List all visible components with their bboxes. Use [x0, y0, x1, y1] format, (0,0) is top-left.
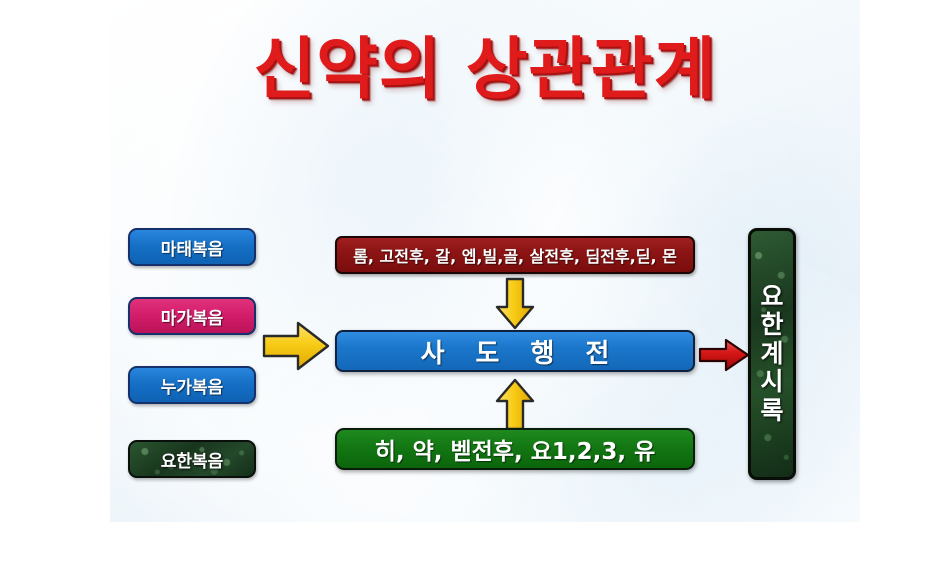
general-epistles-label: 히, 약, 벧전후, 요1,2,3, 유 — [375, 432, 656, 466]
gospel-box-john[interactable]: 요한복음 — [128, 440, 256, 478]
page-title: 신약의 상관관계 — [110, 34, 860, 104]
gospel-label: 마가복음 — [161, 304, 224, 329]
revelation-char: 요 — [760, 284, 783, 311]
revelation-char: 한 — [760, 312, 783, 339]
revelation-char: 시 — [760, 369, 783, 396]
revelation-char: 계 — [760, 341, 783, 368]
pauline-epistles-box[interactable]: 롬, 고전후, 갈, 엡,빌,골, 살전후, 딤전후,딛, 몬 — [335, 236, 695, 274]
acts-label: 사 도 행 전 — [410, 333, 621, 370]
general-epistles-box[interactable]: 히, 약, 벧전후, 요1,2,3, 유 — [335, 428, 695, 470]
acts-box[interactable]: 사 도 행 전 — [335, 330, 695, 372]
arrow-up-yellow-general-to-acts — [494, 377, 536, 431]
arrow-down-yellow-epistles-to-acts — [494, 277, 536, 331]
gospel-label: 요한복음 — [161, 447, 224, 472]
gospel-box-matthew[interactable]: 마태복음 — [128, 228, 256, 266]
gospel-label: 누가복음 — [161, 373, 224, 398]
arrow-right-yellow-gospels-to-acts — [262, 320, 330, 372]
pauline-epistles-label: 롬, 고전후, 갈, 엡,빌,골, 살전후, 딤전후,딛, 몬 — [353, 243, 677, 267]
revelation-char: 록 — [760, 398, 783, 425]
slide-canvas: 신약의 상관관계 마태복음 마가복음 누가복음 요한복음 롬, 고전후, 갈, … — [110, 0, 860, 522]
revelation-box[interactable]: 요 한 계 시 록 — [748, 228, 796, 480]
gospel-box-luke[interactable]: 누가복음 — [128, 366, 256, 404]
arrow-right-red-acts-to-revelation — [698, 337, 750, 373]
gospel-label: 마태복음 — [161, 235, 224, 260]
gospel-box-mark[interactable]: 마가복음 — [128, 297, 256, 335]
